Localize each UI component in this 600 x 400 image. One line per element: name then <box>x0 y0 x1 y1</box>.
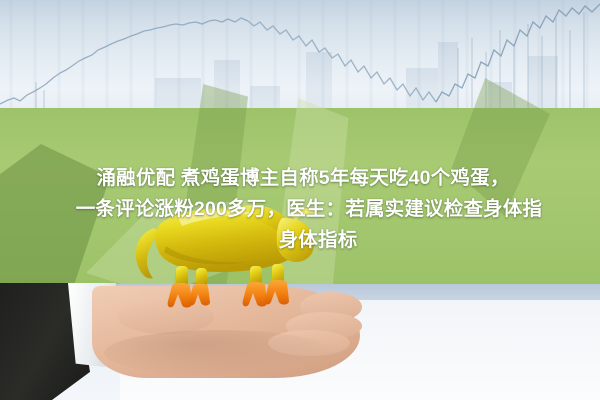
palm-shadow <box>104 330 334 376</box>
news-thumbnail-image: 涌融优配 煮鸡蛋博主自称5年每天吃40个鸡蛋， 一条评论涨粉200多万，医生：若… <box>0 0 600 400</box>
headline-line-1: 涌融优配 煮鸡蛋博主自称5年每天吃40个鸡蛋， <box>0 163 600 194</box>
headline-line-3: 身体指标 <box>0 225 600 256</box>
headline-line-2: 一条评论涨粉200多万，医生：若属实建议检查身体指 <box>18 194 600 225</box>
headline-overlay: 涌融优配 煮鸡蛋博主自称5年每天吃40个鸡蛋， 一条评论涨粉200多万，医生：若… <box>0 163 600 256</box>
